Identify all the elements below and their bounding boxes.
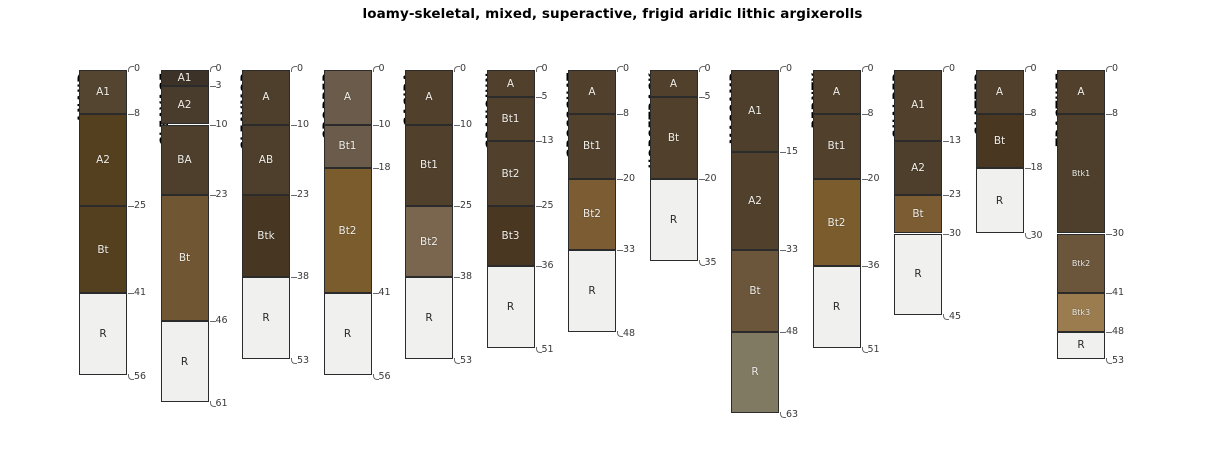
depth-label: 53 [297,355,309,366]
depth-label: 0 [868,63,874,74]
depth-label: 20 [623,173,635,184]
depth-label: 5 [542,91,548,102]
depth-label: 35 [705,257,717,268]
horizon-label: A [996,86,1003,98]
depth-label: 13 [949,135,961,146]
depth-label: 53 [460,355,472,366]
depth-label: 51 [868,344,880,355]
soil-horizon[interactable]: R [894,234,942,316]
depth-label: 10 [216,119,228,130]
depth-label: 38 [460,271,472,282]
depth-label: 0 [134,63,140,74]
depth-label: 15 [786,146,798,157]
depth-label: 33 [623,244,635,255]
soil-horizon[interactable]: Bt1 [324,125,372,169]
soil-horizon[interactable]: A2 [79,114,127,207]
depth-label: 0 [542,63,548,74]
horizon-label: A1 [178,72,192,84]
depth-label: 30 [1112,228,1124,239]
soil-horizon[interactable]: Btk1 [1057,114,1105,234]
depth-label: 20 [868,173,880,184]
depth-label: 10 [379,119,391,130]
depth-label: 23 [216,189,228,200]
horizon-label: R [181,356,188,368]
depth-label: 0 [216,63,222,74]
soil-horizon[interactable]: Bt [976,114,1024,169]
horizon-label: R [1077,339,1084,351]
soil-horizon[interactable]: A [487,70,535,97]
horizon-label: A [1077,86,1084,98]
horizon-label: A [507,78,514,90]
soil-horizon[interactable]: Bt2 [324,168,372,293]
horizon-label: Bt1 [501,113,519,125]
depth-label: 36 [542,260,554,271]
horizon-label: Bt [668,132,679,144]
soil-horizon[interactable]: R [1057,332,1105,359]
horizon-label: Bt2 [420,236,438,248]
depth-label: 10 [297,119,309,130]
depth-label: 41 [134,287,146,298]
soil-horizon[interactable]: R [568,250,616,332]
horizon-label: Bt2 [827,217,845,229]
soil-horizon[interactable]: Bt2 [568,179,616,250]
depth-label: 53 [1112,355,1124,366]
depth-label: 8 [134,108,140,119]
depth-label: 48 [1112,326,1124,337]
horizon-label: R [344,328,351,340]
horizon-label: R [914,268,921,280]
soil-horizon[interactable]: Bt [161,195,209,320]
depth-label: 41 [1112,287,1124,298]
horizon-label: A2 [96,154,110,166]
depth-label: 10 [460,119,472,130]
soil-horizon[interactable]: Bt1 [487,97,535,141]
soil-horizon[interactable]: A1 [161,70,209,86]
depth-label: 5 [705,91,711,102]
horizon-label: R [588,285,595,297]
soil-horizon[interactable]: BA [161,125,209,196]
soil-profile-plot: loamy-skeletal, mixed, superactive, frig… [0,0,1225,450]
soil-horizon[interactable]: A [242,70,290,125]
soil-horizon[interactable]: R [405,277,453,359]
depth-label: 8 [623,108,629,119]
depth-label: 0 [1031,63,1037,74]
depth-label: 25 [542,200,554,211]
soil-horizon[interactable]: A [976,70,1024,114]
horizon-label: Bt2 [338,225,356,237]
soil-horizon[interactable]: A [1057,70,1105,114]
soil-horizon[interactable]: A2 [731,152,779,250]
depth-label: 0 [623,63,629,74]
soil-horizon[interactable]: R [242,277,290,359]
depth-label: 63 [786,409,798,420]
depth-label: 38 [297,271,309,282]
soil-horizon[interactable]: Bt2 [813,179,861,266]
horizon-label: A1 [911,99,925,111]
horizon-label: A [588,86,595,98]
soil-horizon[interactable]: Bt3 [487,206,535,266]
soil-horizon[interactable]: R [324,293,372,375]
page-title: loamy-skeletal, mixed, superactive, frig… [0,6,1225,22]
horizon-label: Bt [179,252,190,264]
soil-horizon[interactable]: Btk2 [1057,234,1105,294]
horizon-label: A [344,91,351,103]
soil-horizon[interactable]: A2 [161,86,209,124]
soil-horizon[interactable]: A1 [79,70,127,114]
depth-label: 0 [379,63,385,74]
soil-horizon[interactable]: Bt [79,206,127,293]
soil-horizon[interactable]: A2 [894,141,942,196]
horizon-label: R [996,195,1003,207]
soil-horizon[interactable]: R [161,321,209,403]
horizon-label: A2 [178,99,192,111]
soil-horizon[interactable]: Btk [242,195,290,277]
soil-horizon[interactable]: Bt1 [405,125,453,207]
horizon-label: R [507,301,514,313]
depth-label: 25 [460,200,472,211]
soil-horizon[interactable]: A [568,70,616,114]
horizon-label: R [99,328,106,340]
horizon-label: Bt1 [338,140,356,152]
depth-label: 0 [460,63,466,74]
horizon-label: Bt [994,135,1005,147]
soil-horizon[interactable]: AB [242,125,290,196]
soil-horizon[interactable]: Bt2 [405,206,453,277]
soil-horizon[interactable]: Bt [894,195,942,233]
horizon-label: A [425,91,432,103]
horizon-label: A1 [748,105,762,117]
horizon-label: A [670,78,677,90]
soil-horizon[interactable]: Bt1 [813,114,861,179]
horizon-label: R [425,312,432,324]
horizon-label: BA [177,154,191,166]
depth-label: 48 [786,326,798,337]
soil-horizon[interactable]: Bt2 [487,141,535,206]
depth-label: 56 [134,371,146,382]
horizon-label: Bt2 [501,168,519,180]
horizon-label: Btk1 [1072,169,1090,178]
soil-horizon[interactable]: Bt [731,250,779,332]
depth-label: 20 [705,173,717,184]
horizon-label: Bt1 [420,159,438,171]
depth-label: 18 [379,162,391,173]
horizon-label: A [262,91,269,103]
depth-label: 41 [379,287,391,298]
depth-label: 0 [949,63,955,74]
horizon-label: Btk3 [1072,308,1090,317]
horizon-label: R [670,214,677,226]
soil-horizon[interactable]: Btk3 [1057,293,1105,331]
depth-label: 33 [786,244,798,255]
depth-label: 45 [949,311,961,322]
horizon-label: R [833,301,840,313]
soil-horizon[interactable]: Bt1 [568,114,616,179]
depth-label: 3 [216,80,222,91]
soil-horizon[interactable]: R [487,266,535,348]
soil-horizon[interactable]: R [650,179,698,261]
horizon-label: Bt1 [827,140,845,152]
soil-horizon[interactable]: A1 [731,70,779,152]
horizon-label: A2 [911,162,925,174]
horizon-label: AB [259,154,273,166]
depth-label: 0 [786,63,792,74]
horizon-label: A1 [96,86,110,98]
depth-label: 0 [297,63,303,74]
soil-horizon[interactable]: R [731,332,779,414]
horizon-label: R [262,312,269,324]
horizon-label: Bt [97,244,108,256]
depth-label: 18 [1031,162,1043,173]
depth-label: 8 [868,108,874,119]
horizon-label: Bt2 [583,208,601,220]
depth-label: 13 [542,135,554,146]
horizon-label: Btk2 [1072,259,1090,268]
depth-label: 0 [1112,63,1118,74]
depth-label: 56 [379,371,391,382]
depth-label: 46 [216,315,228,326]
depth-label: 23 [949,189,961,200]
depth-label: 23 [297,189,309,200]
depth-label: 51 [542,344,554,355]
soil-horizon[interactable]: Bt [650,97,698,179]
horizon-label: A [833,86,840,98]
depth-label: 25 [134,200,146,211]
depth-label: 0 [705,63,711,74]
depth-label: 36 [868,260,880,271]
soil-horizon[interactable]: A [405,70,453,125]
depth-label: 61 [216,398,228,409]
soil-horizon[interactable]: A [650,70,698,97]
soil-horizon[interactable]: R [976,168,1024,233]
horizon-label: Btk [257,230,274,242]
horizon-label: R [751,366,758,378]
soil-horizon[interactable]: A1 [894,70,942,141]
depth-label: 30 [949,228,961,239]
depth-label: 8 [1112,108,1118,119]
depth-label: 8 [1031,108,1037,119]
horizon-label: Bt [749,285,760,297]
soil-horizon[interactable]: R [79,293,127,375]
soil-horizon[interactable]: R [813,266,861,348]
soil-horizon[interactable]: A [813,70,861,114]
soil-horizon[interactable]: A [324,70,372,125]
depth-label: 30 [1031,230,1043,241]
depth-label: 48 [623,328,635,339]
horizon-label: Bt1 [583,140,601,152]
horizon-label: Bt [912,208,923,220]
horizon-label: A2 [748,195,762,207]
horizon-label: Bt3 [501,230,519,242]
